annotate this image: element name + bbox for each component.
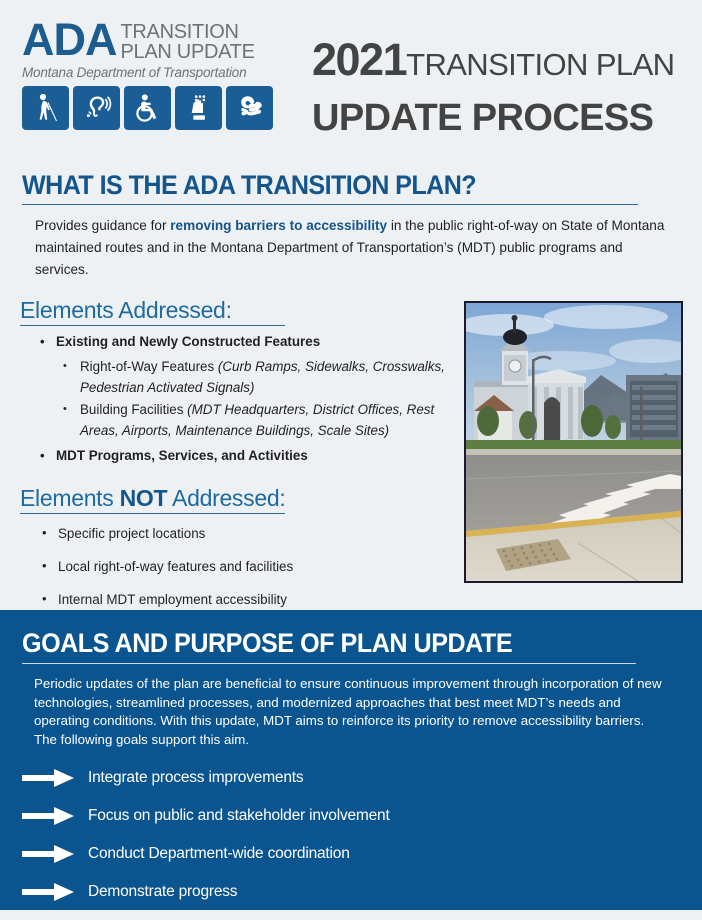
accessibility-icon-row — [22, 86, 284, 130]
not-addressed-emphasis: NOT — [120, 485, 168, 511]
elements-not-addressed-list: Specific project locations Local right-o… — [20, 524, 440, 623]
sub-list: Right-of-Way Features (Curb Ramps, Sidew… — [56, 356, 459, 441]
goals-list: Integrate process improvements Focus on … — [0, 768, 702, 920]
logo-subtext-block: TRANSITION PLAN UPDATE — [121, 20, 255, 62]
goal-label: Conduct Department-wide coordination — [88, 845, 350, 863]
what-is-section: WHAT IS THE ADA TRANSITION PLAN? — [22, 170, 638, 205]
title-line-one: 2021TRANSITION PLAN — [312, 36, 674, 95]
street-crosswalk-curb-ramp-photo — [464, 301, 683, 583]
goal-label: Integrate process improvements — [88, 769, 303, 787]
arrow-right-icon — [22, 768, 74, 788]
arrow-right-icon — [22, 882, 74, 902]
ada-transition-plan-logo: ADA TRANSITION PLAN UPDATE Montana Depar… — [22, 20, 284, 130]
goals-heading: GOALS AND PURPOSE OF PLAN UPDATE — [22, 628, 593, 659]
list-item: Focus on public and stakeholder involvem… — [0, 806, 702, 826]
not-addressed-lead: Elements — [20, 485, 120, 511]
elements-not-addressed-section: Elements NOT Addressed: — [20, 485, 285, 514]
list-item: Local right-of-way features and faciliti… — [20, 557, 440, 577]
list-item: Specific project locations — [20, 524, 440, 544]
logo-ada-text: ADA — [22, 20, 117, 60]
title-update-process: UPDATE PROCESS — [312, 96, 674, 140]
elements-addressed-label: Elements Addressed — [20, 297, 226, 323]
logo-agency-subtitle: Montana Department of Transportation — [22, 65, 284, 80]
arrow-right-icon — [22, 844, 74, 864]
elements-not-addressed-heading: Elements NOT Addressed: — [20, 485, 285, 512]
goals-divider — [22, 663, 636, 664]
goal-label: Focus on public and stakeholder involvem… — [88, 807, 390, 825]
what-is-divider — [22, 204, 638, 205]
elements-addressed-divider — [20, 325, 285, 326]
what-is-paragraph: Provides guidance for removing barriers … — [35, 215, 665, 281]
list-item: Right-of-Way Features (Curb Ramps, Sidew… — [56, 356, 459, 398]
paragraph-lead: Provides guidance for — [35, 218, 170, 233]
page-header: ADA TRANSITION PLAN UPDATE Montana Depar… — [0, 0, 702, 160]
list-item: Integrate process improvements — [0, 768, 702, 788]
not-addressed-tail: Addressed: — [167, 485, 285, 511]
list-item: Internal MDT employment accessibility — [20, 590, 440, 610]
logo-wordmark: ADA TRANSITION PLAN UPDATE — [22, 20, 284, 62]
hearing-loss-ear-icon — [73, 86, 120, 130]
wheelchair-icon — [124, 86, 171, 130]
list-item: Conduct Department-wide coordination — [0, 844, 702, 864]
list-item: Building Facilities (MDT Headquarters, D… — [56, 399, 459, 441]
paragraph-emphasis: removing barriers to accessibility — [170, 218, 387, 233]
logo-plan-update-text: PLAN UPDATE — [121, 42, 255, 62]
sub-bullet-label: Right-of-Way Features — [80, 359, 218, 374]
elements-not-addressed-divider — [20, 513, 285, 514]
blind-person-cane-icon — [22, 86, 69, 130]
elements-addressed-list: Existing and Newly Constructed Features … — [34, 331, 459, 469]
goals-paragraph: Periodic updates of the plan are benefic… — [34, 675, 662, 749]
sub-bullet-label: Building Facilities — [80, 402, 187, 417]
title-year: 2021 — [312, 34, 406, 85]
goals-paragraph-block: Periodic updates of the plan are benefic… — [34, 665, 662, 749]
goals-band: GOALS AND PURPOSE OF PLAN UPDATE Periodi… — [0, 610, 702, 910]
list-item: Demonstrate progress — [0, 882, 702, 902]
logo-transition-text: TRANSITION — [121, 22, 255, 42]
bullet-label: MDT Programs, Services, and Activities — [56, 448, 308, 463]
goals-heading-block: GOALS AND PURPOSE OF PLAN UPDATE — [22, 628, 636, 664]
title-transition-plan: TRANSITION PLAN — [406, 47, 674, 82]
elements-addressed-section: Elements Addressed: — [20, 297, 285, 326]
arrow-right-icon — [22, 806, 74, 826]
sign-language-hands-icon — [226, 86, 273, 130]
bullet-label: Existing and Newly Constructed Features — [56, 334, 320, 349]
flyer-page: ADA TRANSITION PLAN UPDATE Montana Depar… — [0, 0, 702, 910]
list-item: MDT Programs, Services, and Activities — [34, 445, 459, 467]
goal-label: Demonstrate progress — [88, 883, 237, 901]
list-item: Existing and Newly Constructed Features … — [34, 331, 459, 441]
braille-hand-icon — [175, 86, 222, 130]
elements-addressed-heading: Elements Addressed: — [20, 297, 285, 324]
elements-addressed-colon: : — [226, 297, 232, 323]
page-title: 2021TRANSITION PLAN UPDATE PROCESS — [312, 36, 674, 140]
what-is-heading: WHAT IS THE ADA TRANSITION PLAN? — [22, 170, 595, 201]
